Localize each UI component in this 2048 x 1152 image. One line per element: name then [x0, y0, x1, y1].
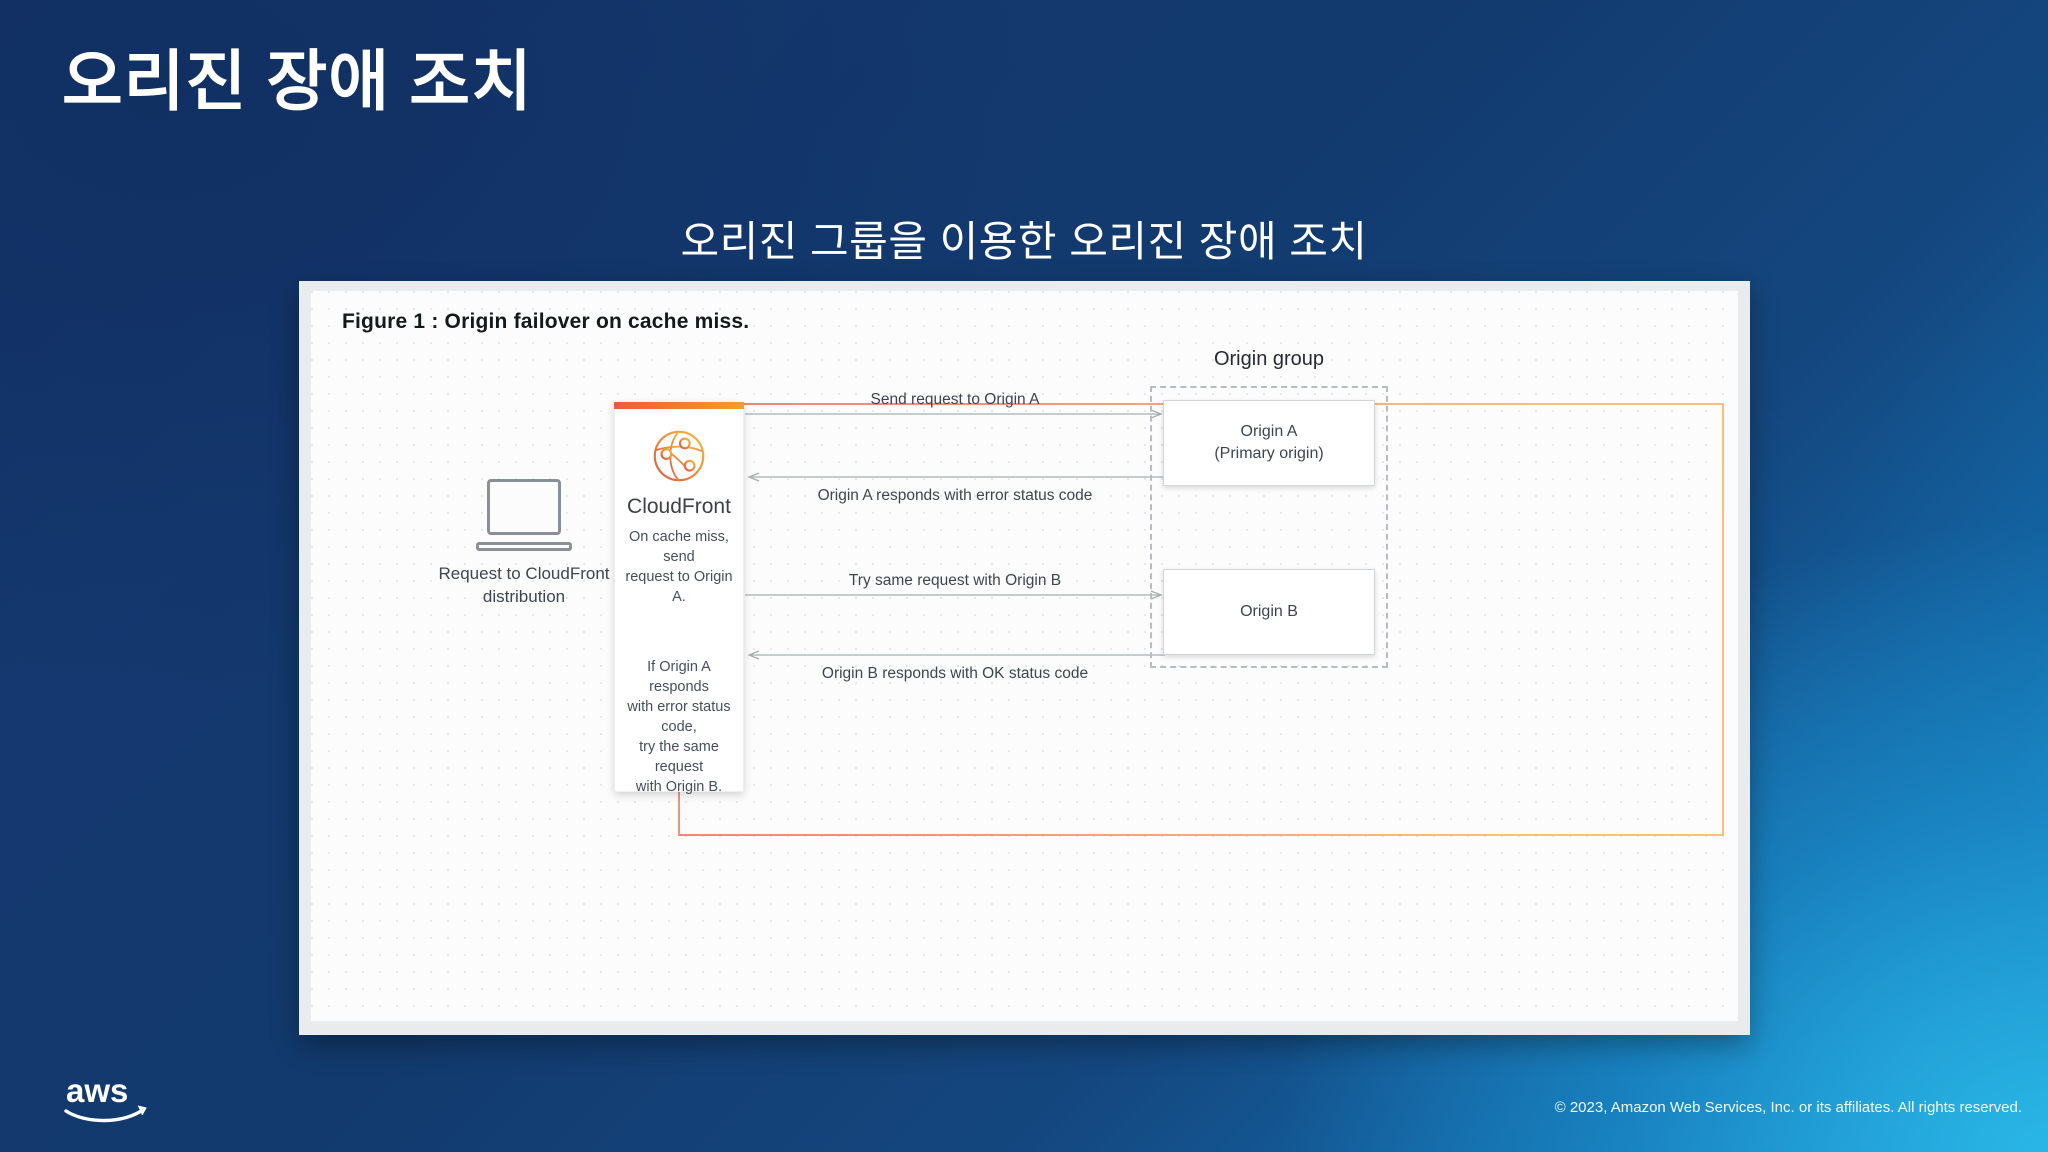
origin-b-box: Origin B	[1163, 569, 1375, 655]
client-label-line1: Request to CloudFront	[438, 564, 609, 583]
cloudfront-accent-bar	[614, 402, 744, 409]
svg-text:aws: aws	[66, 1072, 128, 1109]
laptop-icon	[476, 479, 572, 551]
laptop-base-shape	[476, 542, 572, 551]
origin-a-label: Origin A	[1241, 423, 1298, 440]
page-title: 오리진 장애 조치	[62, 28, 533, 124]
copyright-text: © 2023, Amazon Web Services, Inc. or its…	[1555, 1099, 2022, 1116]
cloudfront-note-2-line2: with error status code,	[627, 699, 730, 735]
page-subtitle: 오리진 그룹을 이용한 오리진 장애 조치	[0, 208, 2048, 269]
cloudfront-note-1: On cache miss, send request to Origin A.	[615, 527, 743, 607]
figure-caption: Figure 1 : Origin failover on cache miss…	[342, 310, 749, 334]
aws-logo: aws	[60, 1072, 160, 1124]
flow-label-3: Origin B responds with OK status code	[745, 665, 1165, 683]
cloudfront-note-2: If Origin A responds with error status c…	[615, 657, 743, 797]
origin-a-sublabel: (Primary origin)	[1214, 445, 1323, 462]
client-node: Request to CloudFront distribution	[429, 479, 619, 609]
cloudfront-globe-icon	[648, 425, 710, 487]
cloudfront-note-1-line2: request to Origin A.	[625, 569, 732, 605]
cloudfront-note-2-line3: try the same request	[639, 739, 719, 775]
cloudfront-note-2-line4: with Origin B.	[636, 779, 722, 795]
client-label-line2: distribution	[483, 587, 565, 606]
flow-arrow-2	[745, 590, 1165, 612]
flow-label-1: Origin A responds with error status code	[745, 487, 1165, 505]
origin-b-label: Origin B	[1240, 603, 1298, 620]
figure-panel: Figure 1 : Origin failover on cache miss…	[299, 281, 1750, 1035]
flow-label-0: Send request to Origin A	[745, 391, 1165, 409]
cloudfront-note-1-line1: On cache miss, send	[629, 529, 729, 565]
origin-a-box: Origin A (Primary origin)	[1163, 400, 1375, 486]
figure-canvas: Figure 1 : Origin failover on cache miss…	[311, 291, 1738, 1021]
flow-label-2: Try same request with Origin B	[745, 572, 1165, 590]
flow-arrow-0	[745, 409, 1165, 431]
laptop-screen-shape	[487, 479, 561, 535]
cloudfront-title: CloudFront	[615, 495, 743, 519]
cloudfront-note-2-line1: If Origin A responds	[647, 659, 711, 695]
slide-root: 오리진 장애 조치 오리진 그룹을 이용한 오리진 장애 조치 Figure 1…	[0, 0, 2048, 1152]
cloudfront-card: CloudFront On cache miss, send request t…	[614, 402, 744, 792]
origin-group-title: Origin group	[1149, 348, 1389, 371]
client-label: Request to CloudFront distribution	[429, 563, 619, 609]
